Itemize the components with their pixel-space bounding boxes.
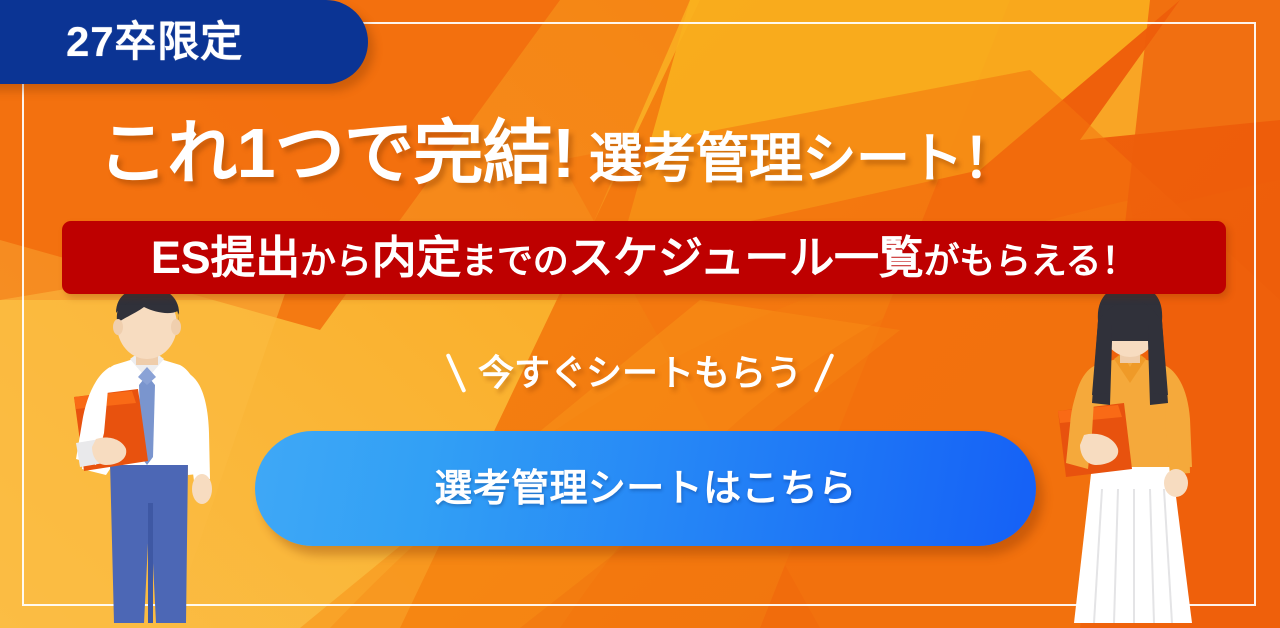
slash-left-icon — [446, 353, 467, 393]
right-hand — [1164, 469, 1188, 497]
promo-banner: 27卒限定 これ1つで完結! 選考管理シート！ ES提出 から 内定 までの ス… — [0, 0, 1280, 628]
headline-sub: 選考管理シート！ — [589, 132, 1017, 186]
cta-microcopy: 今すぐシートもらう — [0, 352, 1280, 399]
benefit-bar-text: ES提出 から 内定 までの スケジュール一覧 がもらえる！ — [151, 235, 1137, 280]
headline-main: これ1つで完結! — [98, 118, 575, 188]
benefit-seg-1: から — [300, 243, 372, 279]
male-student-illustration — [52, 293, 242, 628]
ear-left — [113, 319, 123, 335]
benefit-seg-5: がもらえる！ — [924, 243, 1138, 279]
slash-right-icon — [814, 353, 835, 393]
benefit-seg-4: スケジュール一覧 — [568, 235, 923, 280]
trouser-seam — [148, 503, 153, 623]
cta-microcopy-wrap: 今すぐシートもらう — [454, 352, 826, 394]
ear-right — [171, 319, 181, 335]
benefit-seg-2: 内定 — [372, 235, 462, 280]
primary-cta-button[interactable]: 選考管理シートはこちら — [255, 431, 1036, 546]
female-student-figure — [1040, 293, 1220, 623]
primary-cta-button-label: 選考管理シートはこちら — [434, 470, 856, 508]
benefit-bar: ES提出 から 内定 までの スケジュール一覧 がもらえる！ — [62, 221, 1226, 294]
benefit-seg-3: までの — [461, 243, 568, 279]
female-student-illustration — [1040, 293, 1220, 628]
right-hand — [192, 474, 212, 504]
male-student-figure — [52, 293, 242, 623]
headline: これ1つで完結! 選考管理シート！ — [98, 118, 1016, 188]
eligibility-badge-label: 27卒限定 — [66, 21, 243, 63]
benefit-seg-0: ES提出 — [151, 235, 300, 280]
cta-microcopy-text: 今すぐシートもらう — [478, 355, 802, 391]
eligibility-badge: 27卒限定 — [0, 0, 368, 84]
